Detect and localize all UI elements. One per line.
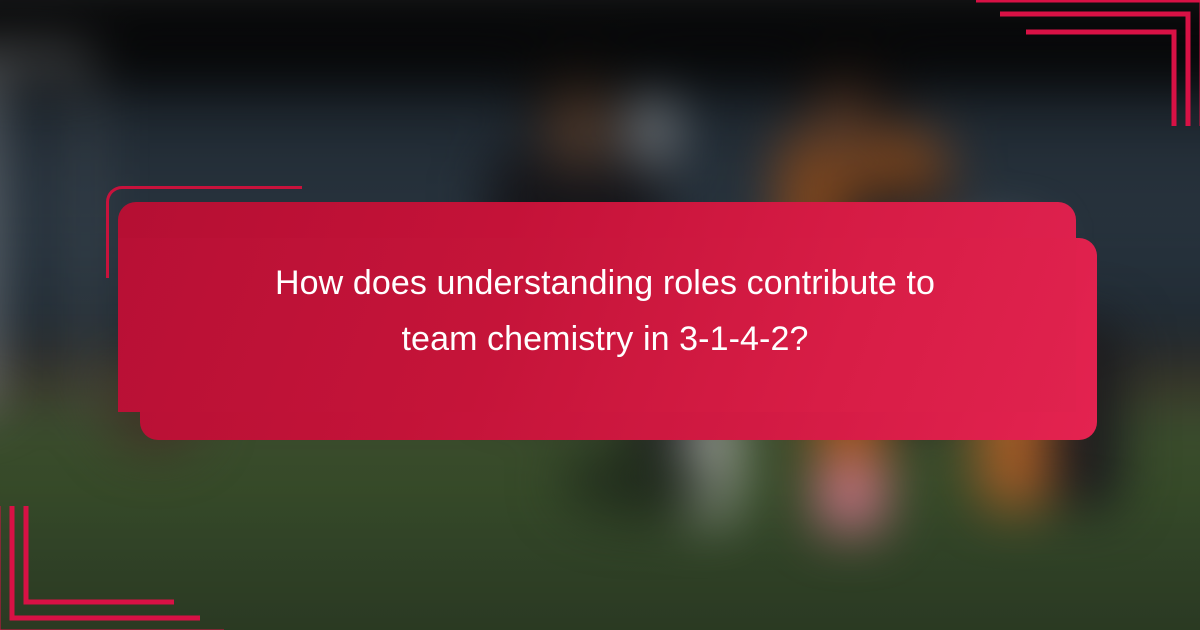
question-card: How does understanding roles contribute … (0, 0, 1200, 630)
social-card-canvas: How does understanding roles contribute … (0, 0, 1200, 630)
question-text: How does understanding roles contribute … (140, 255, 1070, 367)
